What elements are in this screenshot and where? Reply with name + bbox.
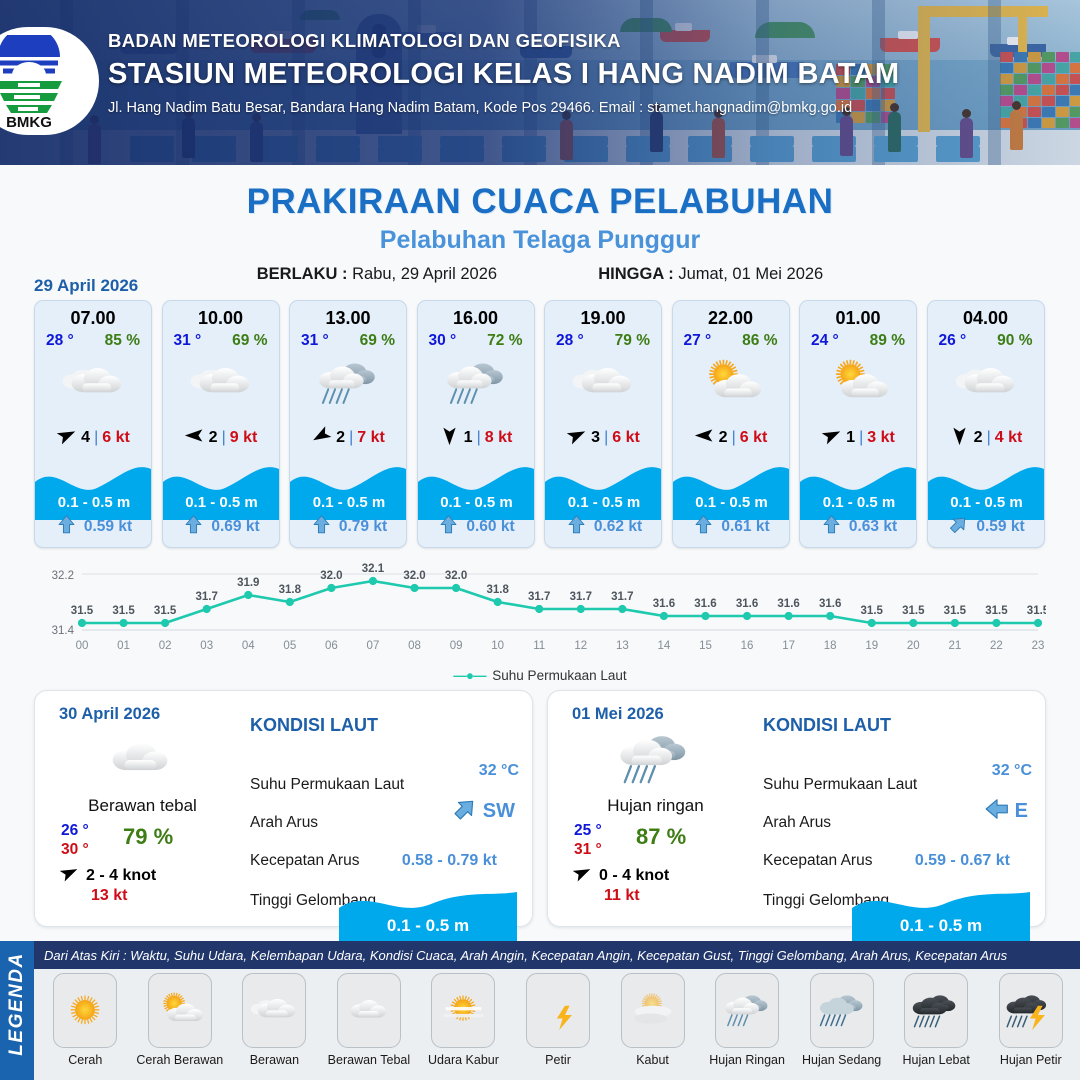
card-time: 04.00: [928, 308, 1044, 329]
svg-text:02: 02: [159, 640, 172, 652]
legend-item-label: Hujan Petir: [983, 1053, 1078, 1067]
sea-surface-temp-value: 32 °C: [992, 762, 1032, 780]
svg-text:31.6: 31.6: [819, 598, 841, 610]
svg-text:01: 01: [117, 640, 130, 652]
svg-text:16: 16: [741, 640, 754, 652]
legend-item-label: Hujan Sedang: [794, 1053, 889, 1067]
card-time: 01.00: [800, 308, 916, 329]
card-humidity: 69 %: [232, 332, 267, 350]
forecast-card: 01.00 24 ° 89 % 1 | 3 kt 0.1 - 0.5 m: [799, 300, 917, 548]
card-current-speed: 0.62 kt: [594, 518, 642, 536]
wind-direction-arrow-icon: [59, 863, 79, 888]
legend-icon-hujan-petir: [999, 973, 1063, 1048]
forecast-card: 19.00 28 ° 79 % 3 | 6 kt 0.1 - 0.5 m: [544, 300, 662, 548]
daily-summary-panel: 30 April 2026 Berawan tebal 26 ° 30 ° 79…: [34, 690, 533, 927]
legend-icon-berawan: [242, 973, 306, 1048]
card-time: 22.00: [673, 308, 789, 329]
wave-height-badge: 0.1 - 0.5 m: [852, 890, 1030, 946]
card-wind-speed: 1: [464, 429, 473, 447]
sea-temperature-chart: 32.231.431.50031.50131.50231.70331.90431…: [34, 560, 1046, 675]
svg-text:31.5: 31.5: [1027, 605, 1046, 617]
title-block: PRAKIRAAN CUACA PELABUHAN Pelabuhan Tela…: [0, 182, 1080, 284]
legend-item: Cerah Berawan: [133, 973, 228, 1067]
valid-until-label: HINGGA :: [598, 265, 673, 283]
svg-text:21: 21: [948, 640, 961, 652]
panel-gust: 13 kt: [91, 887, 127, 905]
sea-conditions-title: KONDISI LAUT: [250, 715, 525, 736]
wind-direction-arrow-icon: [56, 425, 77, 451]
card-humidity: 85 %: [105, 332, 140, 350]
current-direction-arrow-icon: [183, 514, 204, 540]
svg-text:31.5: 31.5: [902, 605, 925, 617]
station-address: Jl. Hang Nadim Batu Besar, Bandara Hang …: [108, 100, 899, 116]
card-air-temperature: 30 °: [429, 332, 457, 350]
wind-direction-arrow-icon: [566, 425, 587, 451]
current-direction-arrow-icon: [311, 514, 332, 540]
separator: |: [477, 429, 481, 447]
page-header: BMKG BADAN METEOROLOGI KLIMATOLOGI DAN G…: [0, 0, 1080, 165]
card-current-speed: 0.79 kt: [339, 518, 387, 536]
card-humidity: 79 %: [615, 332, 650, 350]
panel-condition: Berawan tebal: [35, 796, 250, 816]
forecast-card: 04.00 26 ° 90 % 2 | 4 kt 0.1 - 0.5 m: [927, 300, 1045, 548]
card-wave-height: 0.1 - 0.5 m: [928, 494, 1045, 511]
separator: |: [987, 429, 991, 447]
svg-text:31.7: 31.7: [570, 591, 592, 603]
svg-text:31.5: 31.5: [985, 605, 1008, 617]
legend-icon-berawan-tebal: [337, 973, 401, 1048]
agency-name: BADAN METEOROLOGI KLIMATOLOGI DAN GEOFIS…: [108, 30, 899, 52]
svg-text:15: 15: [699, 640, 712, 652]
legend-icon-hujan-ringan: [715, 973, 779, 1048]
card-air-temperature: 26 °: [939, 332, 967, 350]
card-current-speed: 0.60 kt: [466, 518, 514, 536]
svg-text:BMKG: BMKG: [6, 114, 52, 130]
svg-text:31.8: 31.8: [486, 584, 509, 596]
card-wind-speed: 4: [81, 429, 90, 447]
svg-text:04: 04: [242, 640, 255, 652]
weather-icon-hujan-ringan: [290, 353, 406, 415]
svg-text:00: 00: [76, 640, 89, 652]
card-wave-height: 0.1 - 0.5 m: [418, 494, 535, 511]
legend-item: Hujan Sedang: [794, 973, 889, 1067]
current-direction-arrow-icon: [693, 514, 714, 540]
daily-summary-panels: 30 April 2026 Berawan tebal 26 ° 30 ° 79…: [34, 690, 1046, 927]
svg-text:10: 10: [491, 640, 504, 652]
svg-text:22: 22: [990, 640, 1003, 652]
validity-range: BERLAKU : Rabu, 29 April 2026 HINGGA : J…: [0, 265, 1080, 284]
svg-text:31.5: 31.5: [154, 605, 177, 617]
svg-text:31.5: 31.5: [861, 605, 884, 617]
svg-text:17: 17: [782, 640, 795, 652]
weather-icon-berawan-tebal: [81, 729, 201, 791]
card-current-speed: 0.63 kt: [849, 518, 897, 536]
legend-icon-udara-kabur: [431, 973, 495, 1048]
legend-icon-hujan-lebat: [904, 973, 968, 1048]
svg-text:31.5: 31.5: [71, 605, 94, 617]
svg-text:32.0: 32.0: [445, 570, 467, 582]
legend-item-label: Cerah Berawan: [133, 1053, 228, 1067]
separator: |: [94, 429, 98, 447]
card-air-temperature: 27 °: [684, 332, 712, 350]
weather-icon-berawan: [928, 353, 1044, 415]
svg-text:07: 07: [367, 640, 380, 652]
card-gust-speed: 8 kt: [485, 429, 513, 447]
wave-height-badge: 0.1 - 0.5 m: [339, 890, 517, 946]
sea-conditions-title: KONDISI LAUT: [763, 715, 1038, 736]
forecast-card: 07.00 28 ° 85 % 4 | 6 kt 0.1 - 0.5 m: [34, 300, 152, 548]
current-direction-value: E: [1015, 800, 1028, 823]
card-wind-speed: 3: [591, 429, 600, 447]
svg-text:23: 23: [1032, 640, 1045, 652]
svg-text:31.6: 31.6: [736, 598, 758, 610]
card-time: 10.00: [163, 308, 279, 329]
wind-direction-arrow-icon: [311, 425, 332, 451]
current-direction-arrow-icon: [56, 514, 77, 540]
svg-text:13: 13: [616, 640, 629, 652]
forecast-card: 13.00 31 ° 69 % 2 | 7 kt 0.1 - 0.5 m: [289, 300, 407, 548]
svg-text:08: 08: [408, 640, 421, 652]
svg-text:31.4: 31.4: [52, 625, 75, 637]
current-speed-value: 0.59 - 0.67 kt: [915, 852, 1010, 870]
svg-text:18: 18: [824, 640, 837, 652]
legend-icon-list: Cerah Cerah Berawan Berawan Berawan Teba…: [38, 973, 1078, 1067]
card-humidity: 86 %: [742, 332, 777, 350]
panel-date: 01 Mei 2026: [572, 705, 664, 724]
legend-icon-cerah-berawan: [148, 973, 212, 1048]
legend-item-label: Berawan Tebal: [322, 1053, 417, 1067]
chart-legend: —●— Suhu Permukaan Laut: [0, 668, 1080, 683]
card-wave-height: 0.1 - 0.5 m: [163, 494, 280, 511]
legend-marker-icon: —●—: [453, 668, 485, 683]
card-gust-speed: 7 kt: [357, 429, 385, 447]
header-text-block: BADAN METEOROLOGI KLIMATOLOGI DAN GEOFIS…: [108, 30, 899, 116]
card-time: 13.00: [290, 308, 406, 329]
separator: |: [222, 429, 226, 447]
current-direction-value: SW: [483, 800, 515, 823]
card-current-speed: 0.61 kt: [721, 518, 769, 536]
separator: |: [732, 429, 736, 447]
legend-note: Dari Atas Kiri : Waktu, Suhu Udara, Kele…: [34, 941, 1080, 969]
panel-date: 30 April 2026: [59, 705, 160, 724]
card-wave-height: 0.1 - 0.5 m: [545, 494, 662, 511]
panel-condition: Hujan ringan: [548, 796, 763, 816]
svg-text:32.2: 32.2: [52, 570, 74, 582]
current-direction-arrow-icon: [821, 514, 842, 540]
svg-text:20: 20: [907, 640, 920, 652]
weather-icon-hujan-ringan: [418, 353, 534, 415]
card-wind-speed: 2: [719, 429, 728, 447]
card-humidity: 89 %: [870, 332, 905, 350]
svg-text:31.7: 31.7: [528, 591, 550, 603]
card-wind-speed: 2: [336, 429, 345, 447]
card-gust-speed: 6 kt: [102, 429, 130, 447]
weather-icon-berawan: [545, 353, 661, 415]
legend-item-label: Petir: [511, 1053, 606, 1067]
card-wind-speed: 2: [974, 429, 983, 447]
weather-icon-hujan-ringan: [594, 729, 714, 791]
legend-item: Berawan: [227, 973, 322, 1067]
wave-height-value: 0.1 - 0.5 m: [339, 916, 517, 936]
card-wave-height: 0.1 - 0.5 m: [673, 494, 790, 511]
card-current-speed: 0.59 kt: [84, 518, 132, 536]
legend-item-label: Kabut: [605, 1053, 700, 1067]
sea-row-label: Arah Arus: [763, 814, 831, 832]
separator: |: [859, 429, 863, 447]
legend-item: Hujan Petir: [983, 973, 1078, 1067]
wind-direction-arrow-icon: [572, 863, 592, 888]
svg-text:31.6: 31.6: [777, 598, 799, 610]
separator: |: [349, 429, 353, 447]
svg-text:19: 19: [865, 640, 878, 652]
sea-row-label: Arah Arus: [250, 814, 318, 832]
forecast-card-row: 07.00 28 ° 85 % 4 | 6 kt 0.1 - 0.5 m: [34, 300, 1046, 548]
current-direction-arrow-icon: [452, 796, 478, 827]
panel-gust: 11 kt: [604, 887, 640, 905]
wind-direction-arrow-icon: [694, 425, 715, 451]
card-gust-speed: 6 kt: [612, 429, 640, 447]
legend-icon-cerah: [53, 973, 117, 1048]
wind-direction-arrow-icon: [184, 425, 205, 451]
wind-direction-arrow-icon: [821, 425, 842, 451]
card-humidity: 72 %: [487, 332, 522, 350]
card-humidity: 69 %: [360, 332, 395, 350]
page-title: PRAKIRAAN CUACA PELABUHAN: [0, 182, 1080, 222]
svg-text:31.6: 31.6: [653, 598, 675, 610]
legend-item: Hujan Lebat: [889, 973, 984, 1067]
svg-text:09: 09: [450, 640, 463, 652]
svg-text:32.1: 32.1: [362, 563, 385, 575]
card-time: 19.00: [545, 308, 661, 329]
card-air-temperature: 31 °: [174, 332, 202, 350]
daily-summary-panel: 01 Mei 2026 Hujan ringan 25 ° 31 ° 87 % …: [547, 690, 1046, 927]
sea-row-label: Suhu Permukaan Laut: [250, 776, 404, 794]
card-gust-speed: 9 kt: [230, 429, 258, 447]
svg-text:31.9: 31.9: [237, 577, 259, 589]
card-air-temperature: 31 °: [301, 332, 329, 350]
valid-from-label: BERLAKU :: [257, 265, 348, 283]
panel-humidity: 87 %: [636, 824, 686, 850]
panel-temp-min: 25 °: [574, 821, 602, 840]
card-gust-speed: 3 kt: [867, 429, 895, 447]
svg-text:31.7: 31.7: [611, 591, 633, 603]
sea-surface-temp-value: 32 °C: [479, 762, 519, 780]
legend-icon-kabut: [621, 973, 685, 1048]
svg-text:31.6: 31.6: [694, 598, 716, 610]
legend-icon-petir: [526, 973, 590, 1048]
panel-wind-range: 2 - 4 knot: [86, 867, 156, 885]
weather-icon-berawan: [163, 353, 279, 415]
wind-direction-arrow-icon: [949, 425, 970, 451]
current-direction-arrow-icon: [948, 514, 969, 540]
page-subtitle: Pelabuhan Telaga Punggur: [0, 226, 1080, 255]
sea-row-label: Suhu Permukaan Laut: [763, 776, 917, 794]
legend-sidebar-label: LEGENDA: [6, 951, 28, 1057]
card-current-speed: 0.69 kt: [211, 518, 259, 536]
station-name: STASIUN METEOROLOGI KELAS I HANG NADIM B…: [108, 58, 899, 91]
card-humidity: 90 %: [997, 332, 1032, 350]
legend-item: Hujan Ringan: [700, 973, 795, 1067]
legend-item: Cerah: [38, 973, 133, 1067]
wind-direction-arrow-icon: [439, 425, 460, 451]
legend-item-label: Berawan: [227, 1053, 322, 1067]
current-direction-arrow-icon: [438, 514, 459, 540]
sea-row-label: Kecepatan Arus: [250, 852, 359, 870]
legend-section: LEGENDA Dari Atas Kiri : Waktu, Suhu Uda…: [0, 941, 1080, 1080]
weather-icon-berawan: [35, 353, 151, 415]
svg-text:11: 11: [533, 640, 545, 652]
svg-text:32.0: 32.0: [403, 570, 425, 582]
legend-label: Suhu Permukaan Laut: [492, 668, 626, 683]
current-direction-arrow-icon: [566, 514, 587, 540]
card-wave-height: 0.1 - 0.5 m: [800, 494, 917, 511]
svg-text:14: 14: [658, 640, 671, 652]
card-gust-speed: 6 kt: [740, 429, 768, 447]
panel-humidity: 79 %: [123, 824, 173, 850]
card-current-speed: 0.59 kt: [976, 518, 1024, 536]
svg-text:31.5: 31.5: [112, 605, 135, 617]
legend-item-label: Udara Kabur: [416, 1053, 511, 1067]
wave-height-value: 0.1 - 0.5 m: [852, 916, 1030, 936]
panel-temp-max: 30 °: [61, 840, 89, 859]
legend-item: Petir: [511, 973, 606, 1067]
card-time: 16.00: [418, 308, 534, 329]
card-wave-height: 0.1 - 0.5 m: [290, 494, 407, 511]
current-direction-arrow-icon: [984, 796, 1010, 827]
panel-wind-range: 0 - 4 knot: [599, 867, 669, 885]
svg-text:06: 06: [325, 640, 338, 652]
forecast-card: 16.00 30 ° 72 % 1 | 8 kt 0.1 - 0.5 m: [417, 300, 535, 548]
svg-text:31.8: 31.8: [279, 584, 302, 596]
current-speed-value: 0.58 - 0.79 kt: [402, 852, 497, 870]
svg-text:12: 12: [574, 640, 587, 652]
svg-text:03: 03: [200, 640, 213, 652]
valid-from-value: Rabu, 29 April 2026: [352, 265, 497, 283]
svg-text:05: 05: [283, 640, 296, 652]
panel-temp-max: 31 °: [574, 840, 602, 859]
panel-temp-min: 26 °: [61, 821, 89, 840]
svg-text:31.5: 31.5: [944, 605, 967, 617]
card-gust-speed: 4 kt: [995, 429, 1023, 447]
weather-icon-cerah-berawan: [673, 353, 789, 415]
legend-icon-hujan-sedang: [810, 973, 874, 1048]
card-time: 07.00: [35, 308, 151, 329]
bmkg-logo-icon: BMKG: [0, 35, 70, 130]
forecast-card: 10.00 31 ° 69 % 2 | 9 kt 0.1 - 0.5 m: [162, 300, 280, 548]
legend-item-label: Cerah: [38, 1053, 133, 1067]
card-air-temperature: 24 °: [811, 332, 839, 350]
svg-text:32.0: 32.0: [320, 570, 342, 582]
card-wind-speed: 2: [209, 429, 218, 447]
legend-item: Udara Kabur: [416, 973, 511, 1067]
weather-icon-cerah-berawan: [800, 353, 916, 415]
forecast-card: 22.00 27 ° 86 % 2 | 6 kt 0.1 - 0.5 m: [672, 300, 790, 548]
legend-sidebar: LEGENDA: [0, 941, 34, 1080]
card-wave-height: 0.1 - 0.5 m: [35, 494, 152, 511]
card-wind-speed: 1: [846, 429, 855, 447]
separator: |: [604, 429, 608, 447]
legend-item-label: Hujan Lebat: [889, 1053, 984, 1067]
legend-item-label: Hujan Ringan: [700, 1053, 795, 1067]
legend-item: Berawan Tebal: [322, 973, 417, 1067]
card-air-temperature: 28 °: [46, 332, 74, 350]
legend-item: Kabut: [605, 973, 700, 1067]
svg-text:31.7: 31.7: [196, 591, 218, 603]
card-air-temperature: 28 °: [556, 332, 584, 350]
sea-row-label: Kecepatan Arus: [763, 852, 872, 870]
valid-until-value: Jumat, 01 Mei 2026: [678, 265, 823, 283]
forecast-day-label: 29 April 2026: [34, 276, 138, 296]
